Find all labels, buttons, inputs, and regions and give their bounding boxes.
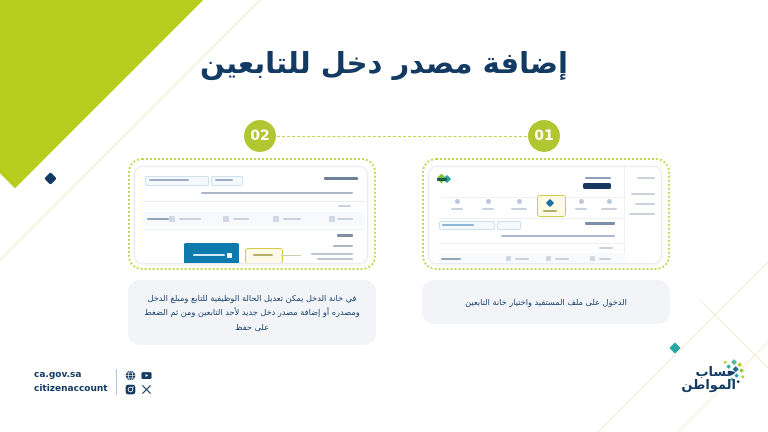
step-column-01: الدخول على ملف المستفيد واختيار خانة الت… (422, 158, 670, 324)
footer-handle-social: citizenaccount (34, 383, 108, 395)
step-connector-line (277, 136, 527, 137)
globe-icon[interactable] (125, 370, 136, 381)
slide-canvas: إضافة مصدر دخل للتابعين 02 01 (0, 0, 768, 432)
instagram-icon[interactable] (125, 384, 136, 395)
youtube-icon[interactable] (141, 370, 152, 381)
footer-social: ca.gov.sa citizenaccount (34, 369, 152, 395)
x-twitter-icon[interactable] (141, 384, 152, 395)
footer-divider (116, 369, 117, 395)
dependents-tab-highlight[interactable] (537, 195, 566, 217)
screenshot-frame-01 (422, 158, 670, 270)
footer-handle-website: ca.gov.sa (34, 369, 108, 381)
step-badge-02: 02 (244, 120, 276, 152)
step-badge-01: 01 (528, 120, 560, 152)
step-caption-01: الدخول على ملف المستفيد واختيار خانة الت… (422, 280, 670, 324)
page-title: إضافة مصدر دخل للتابعين (0, 46, 768, 80)
step-column-02: في خانة الدخل يمكن تعديل الحالة الوظيفية… (128, 158, 376, 345)
callout-highlight-box (245, 248, 283, 264)
income-edit-screen[interactable] (134, 166, 368, 264)
teal-diamond-icon (669, 342, 680, 353)
logo-text-line1: حساب (681, 366, 736, 379)
beneficiary-profile-dependents-screen[interactable] (428, 166, 662, 264)
citizen-account-logo: حساب المواطن (668, 362, 750, 402)
step-caption-02: في خانة الدخل يمكن تعديل الحالة الوظيفية… (128, 280, 376, 345)
screenshot-frame-02 (128, 158, 376, 270)
logo-text-line2: المواطن (681, 379, 736, 392)
